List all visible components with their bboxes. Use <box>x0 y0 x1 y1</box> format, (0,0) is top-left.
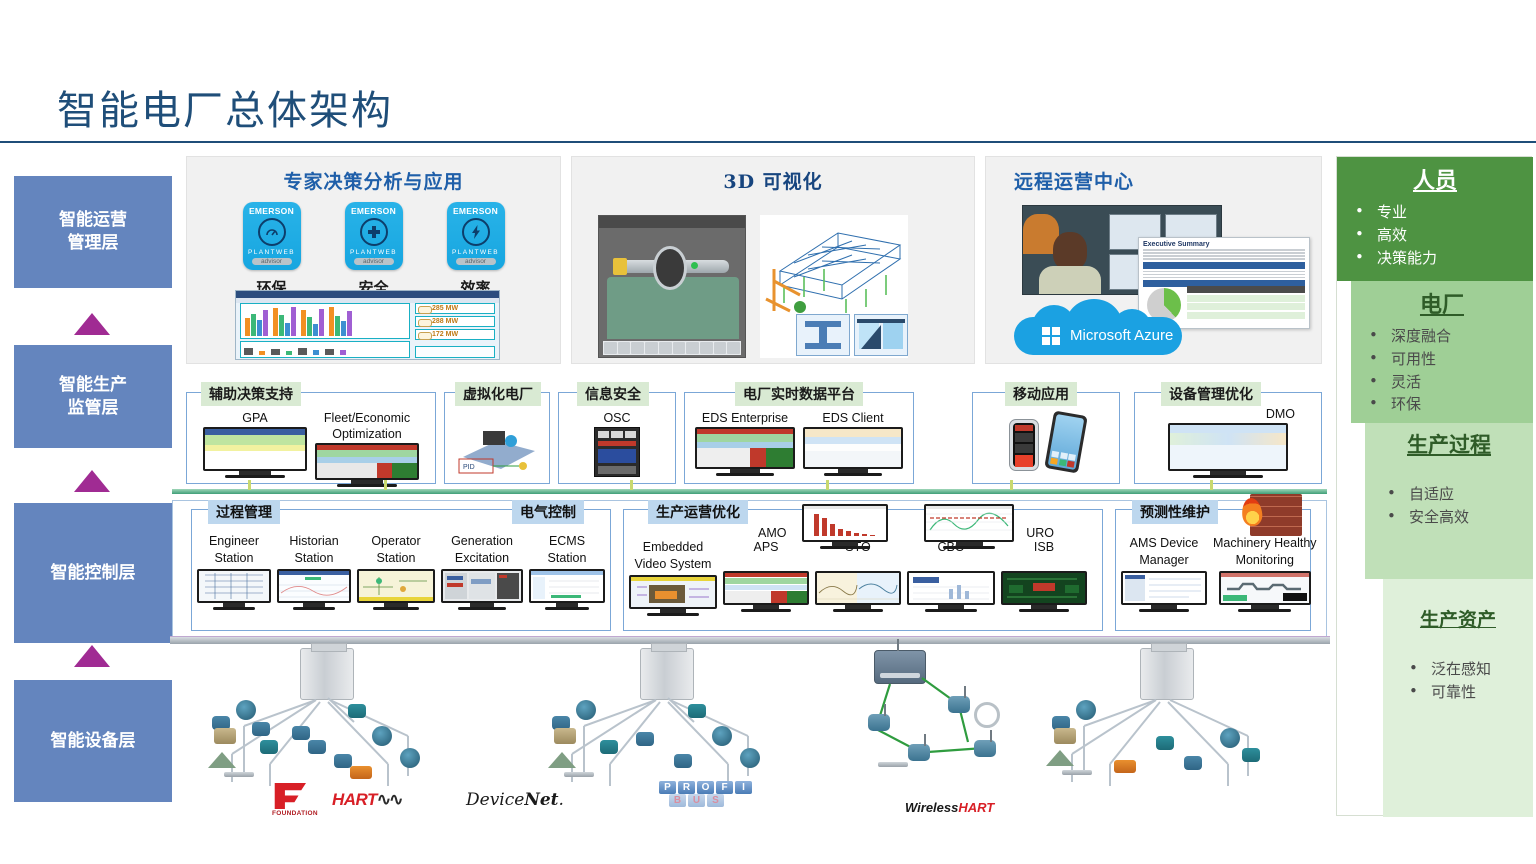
module-item-gpa[interactable]: GPA <box>203 411 307 487</box>
emerson-brand-label: EMERSON <box>345 202 403 216</box>
smartwatch-graphic[interactable] <box>1009 419 1039 471</box>
capability-band-plant[interactable]: 电厂 深度融合 可用性 灵活 环保 <box>1351 281 1533 423</box>
band-list-item: 环保 <box>1369 393 1533 416</box>
plantweb-label: PLANTWEB <box>447 249 505 256</box>
station-label: Embedded <box>629 540 717 554</box>
insertion-probe <box>564 772 594 777</box>
microsoft-windows-icon <box>1042 327 1060 345</box>
module-mobile-applications[interactable]: 移动应用 <box>972 392 1120 484</box>
up-arrow-icon <box>74 470 110 492</box>
band-list-item: 可用性 <box>1369 348 1533 371</box>
station-label: AMS Device <box>1121 536 1207 550</box>
advisor-label: advisor <box>354 258 394 265</box>
devicenet-label-a: Device <box>466 790 524 810</box>
band-list-item: 安全高效 <box>1387 506 1533 529</box>
hart-wave-icon: ∿∿ <box>377 790 402 809</box>
monitor-graphic <box>1168 423 1288 478</box>
field-device-cluster <box>544 644 784 794</box>
station-aps[interactable]: APS <box>723 540 809 616</box>
bus-drop-line <box>248 480 251 490</box>
report-title: Executive Summary <box>1139 238 1309 249</box>
monitor-graphic <box>907 571 995 612</box>
toolbar-button[interactable] <box>714 342 727 354</box>
station-machinery-health-monitoring[interactable]: Machinery Healthy Monitoring <box>1213 536 1317 612</box>
module-decision-support[interactable]: 辅助决策支持 GPA Fleet/Econ <box>186 392 436 484</box>
report-section-header <box>1143 262 1305 269</box>
station-label: ECMS <box>529 534 605 548</box>
station-label: APS <box>723 540 809 554</box>
band-title: 生产资产 <box>1383 579 1533 632</box>
module-information-security[interactable]: 信息安全 OSC <box>558 392 676 484</box>
gauge-icon <box>258 218 286 246</box>
smartphone-graphic[interactable] <box>1044 410 1088 473</box>
station-label: Station <box>357 551 435 565</box>
module-equipment-management-optimization[interactable]: 设备管理优化 DMO <box>1134 392 1322 484</box>
devicenet-dot: . <box>559 790 564 810</box>
expert-dashboard-screenshot[interactable]: 285 MW 288 MW 172 MW <box>235 290 500 360</box>
insertion-probe <box>1062 770 1092 775</box>
hart-logo: HART∿∿ <box>332 790 401 810</box>
band-list-item: 深度融合 <box>1369 325 1533 348</box>
foundation-fieldbus-logo: FOUNDATION <box>272 783 318 817</box>
hart-label: HART <box>958 800 994 815</box>
emerson-brand-label: EMERSON <box>447 202 505 216</box>
station-ecms[interactable]: ECMS Station <box>529 534 605 610</box>
wirelesshart-logo: WirelessHART <box>905 800 994 815</box>
analyzer-module <box>1184 756 1202 770</box>
toolbar-button[interactable] <box>673 342 686 354</box>
module-tag: 信息安全 <box>577 382 649 406</box>
steel-frame-svg <box>760 215 908 315</box>
monitor-graphic <box>1121 571 1207 612</box>
band-list-item: 自适应 <box>1387 483 1533 506</box>
pb-letter: B <box>669 794 686 807</box>
toolbar-button[interactable] <box>604 342 617 354</box>
mw-readout: 288 MW <box>415 316 495 327</box>
band-title: 人员 <box>1337 157 1533 195</box>
azure-label: Microsoft Azure <box>1070 327 1173 344</box>
turbine-sensor-marker-icon <box>691 262 698 269</box>
layer-label: 智能设备层 <box>51 730 136 753</box>
pb-letter: S <box>707 794 724 807</box>
flanged-transmitter <box>372 726 392 746</box>
monitor-graphic <box>723 571 809 612</box>
control-valve <box>1054 728 1076 744</box>
item-label: Fleet/Economic <box>315 411 419 425</box>
control-box-production-optimization[interactable]: 生产运营优化 AMO <box>623 509 1103 631</box>
station-label: URO <box>1026 526 1054 540</box>
station-ams-device-manager[interactable]: AMS Device Manager <box>1121 536 1207 612</box>
plantweb-label: PLANTWEB <box>345 249 403 256</box>
band-list: 深度融合 可用性 灵活 环保 <box>1351 325 1533 416</box>
yellow-field-device <box>1114 760 1136 773</box>
toolbar-button[interactable] <box>618 342 631 354</box>
bus-drop-line <box>826 480 829 490</box>
monitor-graphic <box>529 569 605 610</box>
vibration-sensor <box>334 754 352 768</box>
station-label: Generation <box>441 534 523 548</box>
frame-detail-thumbnail[interactable] <box>854 314 908 356</box>
flanged-transmitter <box>236 700 256 720</box>
station-embedded-video-system[interactable]: Embedded Video System <box>629 540 717 616</box>
dashboard-titlebar <box>236 291 499 298</box>
control-valve <box>214 728 236 744</box>
flanged-transmitter <box>576 700 596 720</box>
plantweb-tile-environment[interactable]: EMERSON PLANTWEB advisor 环保 <box>241 202 303 298</box>
microsoft-azure-cloud-logo: Microsoft Azure <box>1014 299 1182 357</box>
pressure-transmitter <box>348 704 366 718</box>
band-list-item: 灵活 <box>1369 371 1533 394</box>
steel-structure-model-image[interactable] <box>760 215 908 358</box>
svg-text:PID: PID <box>463 464 475 471</box>
station-amo[interactable]: AMO <box>802 504 888 549</box>
module-tag: 设备管理优化 <box>1161 382 1261 406</box>
panel-remote-operations-center[interactable]: 远程运营中心 Executive Summary Microsoft A <box>985 156 1322 364</box>
profibus-top-row: P R O F I <box>659 781 752 794</box>
monitor-graphic <box>815 571 901 612</box>
hart-label: HART <box>332 790 377 809</box>
title-divider <box>0 141 1536 143</box>
panel-title: 3D 可视化 <box>572 157 974 194</box>
pb-letter: O <box>697 781 714 794</box>
layer-label-line2: 管理层 <box>59 232 127 255</box>
monitor-graphic <box>197 569 271 610</box>
report-table <box>1187 286 1305 322</box>
station-isb[interactable]: ISB <box>1001 540 1087 616</box>
module-tag: 移动应用 <box>1005 382 1077 406</box>
plantweb-tile-graphic: EMERSON PLANTWEB advisor <box>345 202 403 270</box>
band-title: 生产过程 <box>1365 423 1533 459</box>
band-list-item: 专业 <box>1355 201 1533 224</box>
module-tag: 辅助决策支持 <box>201 382 301 406</box>
monitor-graphic <box>277 569 351 610</box>
monitor-graphic <box>441 569 523 610</box>
mw-readout: 172 MW <box>415 329 495 340</box>
bus-drop-line <box>384 480 387 490</box>
control-tag: 生产运营优化 <box>648 500 748 524</box>
profibus-bottom-row: B U S <box>669 794 752 807</box>
operator-person-head <box>1053 232 1087 270</box>
module-item-fleet-optimization[interactable]: Fleet/Economic Optimization <box>315 411 419 487</box>
layer-label-line1: 智能生产 <box>59 374 127 397</box>
monitor-graphic <box>802 504 888 549</box>
temperature-transmitter <box>260 740 278 754</box>
dashboard-secondary-charts <box>240 341 410 358</box>
monitor-graphic <box>1001 571 1087 612</box>
plantweb-tile-safety[interactable]: EMERSON PLANTWEB advisor 安全 <box>343 202 405 298</box>
plantweb-tile-graphic: EMERSON PLANTWEB advisor <box>447 202 505 270</box>
band-list-item: 决策能力 <box>1355 247 1533 270</box>
pb-letter: F <box>716 781 733 794</box>
page-title: 智能电厂总体架构 <box>57 78 393 136</box>
plantweb-label: PLANTWEB <box>243 249 301 256</box>
vibration-sensor <box>674 754 692 768</box>
turbine-impeller-disc <box>653 246 687 290</box>
plant-network-bus <box>172 489 1327 494</box>
monitor-graphic <box>315 443 419 487</box>
ibeam-detail-thumbnail[interactable] <box>796 314 850 356</box>
toolbar-button[interactable] <box>659 342 672 354</box>
layer-label-line1: 智能运营 <box>59 209 127 232</box>
station-sto[interactable]: STO <box>815 540 901 616</box>
antenna-icon <box>964 686 966 698</box>
field-device-cluster <box>204 644 444 794</box>
item-label: GPA <box>203 411 307 425</box>
band-list: 泛在感知 可靠性 <box>1383 658 1533 704</box>
layer-box-intelligent-devices[interactable]: 智能设备层 <box>14 680 172 802</box>
layer-box-production-supervision[interactable]: 智能生产 监管层 <box>14 345 172 448</box>
diaphragm-actuator <box>1046 750 1074 766</box>
virtual-plant-diagram: PID <box>445 393 549 482</box>
item-label: OSC <box>559 411 675 425</box>
pb-letter: U <box>688 794 705 807</box>
station-label: AMO <box>758 526 786 540</box>
module-tag: 电厂实时数据平台 <box>735 382 863 406</box>
layer-label: 智能控制层 <box>51 562 136 585</box>
server-rack-graphic <box>594 427 640 477</box>
plus-cross-icon <box>360 218 388 246</box>
profibus-logo: P R O F I B U S <box>659 781 752 807</box>
up-arrow-icon <box>74 313 110 335</box>
band-list: 自适应 安全高效 <box>1365 483 1533 529</box>
fieldbus-f-mark <box>272 783 306 809</box>
panel-title: 专家决策分析与应用 <box>187 157 560 194</box>
dashboard-bar-chart <box>240 303 410 339</box>
control-tag: 过程管理 <box>208 500 280 524</box>
dashboard-readouts: 285 MW 288 MW 172 MW <box>415 303 495 343</box>
bus-drop-line <box>630 480 633 490</box>
module-item-eds-client[interactable]: EDS Client <box>803 411 903 476</box>
field-device-cluster <box>1044 644 1284 794</box>
station-cbo[interactable]: CBO <box>907 540 995 616</box>
monitor-graphic <box>357 569 435 610</box>
toolbar-button[interactable] <box>686 342 699 354</box>
up-arrow-icon <box>74 645 110 667</box>
flanged-transmitter <box>1076 700 1096 720</box>
positioner-device <box>350 766 372 779</box>
control-valve <box>554 728 576 744</box>
report-metrics <box>1139 271 1309 279</box>
layer-box-intelligent-control[interactable]: 智能控制层 <box>14 503 172 643</box>
bus-drop-line <box>1010 480 1013 490</box>
station-engineer[interactable]: Engineer Station <box>197 534 271 610</box>
station-label: Station <box>197 551 271 565</box>
station-operator[interactable]: Operator Station <box>357 534 435 610</box>
monitor-graphic <box>803 427 903 476</box>
handwheel-valve <box>974 702 1000 728</box>
wireless-transmitter <box>1242 748 1260 762</box>
station-generation-excitation[interactable]: Generation Excitation <box>441 534 523 610</box>
antenna-icon <box>990 730 992 742</box>
level-transmitter <box>252 722 270 736</box>
lightning-icon <box>462 218 490 246</box>
item-label: DMO <box>1135 407 1321 421</box>
station-label: Manager <box>1121 553 1207 567</box>
devicenet-label-b: Net <box>524 790 558 810</box>
panel-3d-visualization[interactable]: 3D 可视化 <box>571 156 975 364</box>
bus-drop-line <box>1210 480 1213 490</box>
station-label: Historian <box>277 534 351 548</box>
band-list: 专业 高效 决策能力 <box>1337 201 1533 269</box>
panel-title: 远程运营中心 <box>986 157 1321 194</box>
pb-letter: I <box>735 781 752 794</box>
monitor-graphic <box>1219 571 1311 612</box>
flow-transmitter <box>636 732 654 746</box>
supervision-module-row: 辅助决策支持 GPA Fleet/Econ <box>186 382 1322 494</box>
station-label: Monitoring <box>1213 553 1317 567</box>
capability-band-process[interactable]: 生产过程 自适应 安全高效 <box>1365 423 1533 579</box>
toolbar-button[interactable] <box>645 342 658 354</box>
monitor-graphic <box>629 575 717 616</box>
band-list-item: 可靠性 <box>1409 681 1533 704</box>
control-box-process-management[interactable]: 过程管理 电气控制 Engineer Station Historian Sta… <box>191 509 611 631</box>
panel-expert-decision[interactable]: 专家决策分析与应用 EMERSON PLANTWEB advisor 环保 EM… <box>186 156 561 364</box>
layer-label-line2: 监管层 <box>59 397 127 420</box>
insertion-probe <box>224 772 254 777</box>
pb-letter: P <box>659 781 676 794</box>
module-virtual-plant[interactable]: 虚拟化电厂 PID <box>444 392 550 484</box>
antenna-icon <box>924 734 926 746</box>
layer-box-operations-management[interactable]: 智能运营 管理层 <box>14 176 172 288</box>
module-realtime-data-platform[interactable]: 电厂实时数据平台 EDS Enterprise <box>684 392 914 484</box>
diaphragm-actuator <box>548 752 576 768</box>
wireless-label: Wireless <box>905 800 958 815</box>
band-title: 电厂 <box>1351 281 1533 319</box>
advisor-label: advisor <box>456 258 496 265</box>
wireless-transmitter <box>908 744 930 761</box>
emerson-brand-label: EMERSON <box>243 202 301 216</box>
mesh-links <box>864 644 1054 794</box>
toolbar-button[interactable] <box>727 342 740 354</box>
temperature-transmitter <box>1156 736 1174 750</box>
item-label: Optimization <box>315 427 419 441</box>
capability-column: 人员 专业 高效 决策能力 电厂 深度融合 可用性 灵活 环保 生产过程 自适应… <box>1336 156 1532 816</box>
pb-letter: R <box>678 781 695 794</box>
turbine-3d-model-screenshot[interactable] <box>598 215 746 358</box>
plantweb-tile-graphic: EMERSON PLANTWEB advisor <box>243 202 301 270</box>
wireless-mesh-cluster <box>864 644 1054 794</box>
probe-cable <box>878 762 908 767</box>
station-historian[interactable]: Historian Station <box>277 534 351 610</box>
module-tag: 虚拟化电厂 <box>455 382 541 406</box>
capability-band-asset[interactable]: 生产资产 泛在感知 可靠性 <box>1383 579 1533 817</box>
monitor-graphic <box>203 427 307 478</box>
item-label: EDS Enterprise <box>695 411 795 425</box>
rotary-valve <box>400 748 420 768</box>
dashboard-event-log <box>415 346 495 358</box>
diaphragm-actuator <box>208 752 236 768</box>
firewall-flame-brick-icon <box>1250 494 1302 536</box>
capability-band-people[interactable]: 人员 专业 高效 决策能力 <box>1337 157 1533 281</box>
station-label: Excitation <box>441 551 523 565</box>
rotary-valve <box>740 748 760 768</box>
station-label: Video System <box>629 557 717 571</box>
analyzer-module <box>308 740 326 754</box>
toolbar-button[interactable] <box>700 342 713 354</box>
foundation-label: FOUNDATION <box>272 810 318 817</box>
station-label: Engineer <box>197 534 271 548</box>
toolbar-button[interactable] <box>631 342 644 354</box>
antenna-icon <box>884 704 886 716</box>
band-list-item: 泛在感知 <box>1409 658 1533 681</box>
plantweb-advisor-tiles: EMERSON PLANTWEB advisor 环保 EMERSON <box>187 202 560 298</box>
control-tag: 电气控制 <box>512 500 584 524</box>
control-layer-frame: 过程管理 电气控制 Engineer Station Historian Sta… <box>172 500 1327 640</box>
turbine-coupling-guard <box>613 258 627 275</box>
module-item-eds-enterprise[interactable]: EDS Enterprise <box>695 411 795 476</box>
flanged-transmitter <box>1220 728 1240 748</box>
wireless-transmitter <box>868 714 890 731</box>
plantweb-tile-efficiency[interactable]: EMERSON PLANTWEB advisor 效率 <box>445 202 507 298</box>
station-label: Station <box>529 551 605 565</box>
wireless-transmitter <box>974 740 996 757</box>
operator-person-body <box>1039 266 1101 295</box>
pressure-transmitter <box>688 704 706 718</box>
station-uro[interactable]: URO <box>924 504 1014 549</box>
control-tag: 预测性维护 <box>1132 500 1218 524</box>
station-label: Machinery Healthy <box>1213 536 1317 550</box>
station-label: Station <box>277 551 351 565</box>
wireless-transmitter <box>948 696 970 713</box>
flow-transmitter <box>292 726 310 740</box>
mw-readout: 285 MW <box>415 303 495 314</box>
monitor-graphic <box>924 504 1014 549</box>
viewer-toolbar[interactable] <box>603 341 741 355</box>
station-label: Operator <box>357 534 435 548</box>
flanged-transmitter <box>712 726 732 746</box>
devicenet-logo: DeviceNet. <box>466 790 564 810</box>
viewer-titlebar <box>599 216 745 228</box>
temperature-transmitter <box>600 740 618 754</box>
monitor-graphic <box>695 427 795 476</box>
item-label: EDS Client <box>803 411 903 425</box>
report-paragraph <box>1139 249 1309 260</box>
advisor-label: advisor <box>252 258 292 265</box>
band-list-item: 高效 <box>1355 224 1533 247</box>
